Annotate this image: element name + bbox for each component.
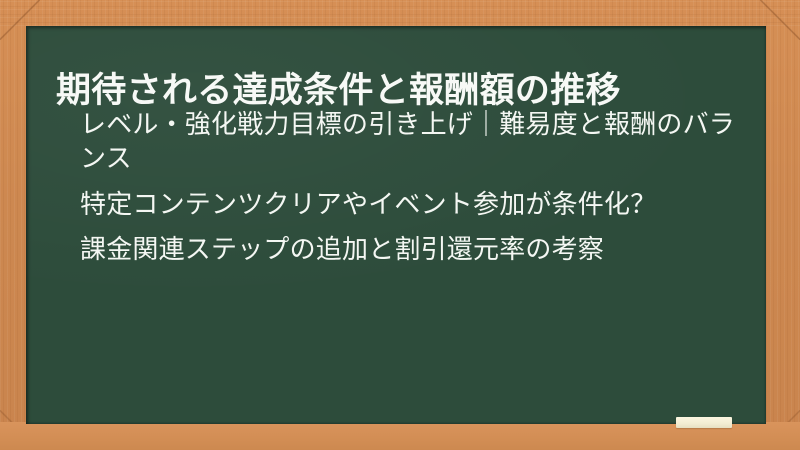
chalkboard-surface: 期待される達成条件と報酬額の推移 レベル・強化戦力目標の引き上げ｜難易度と報酬の… xyxy=(26,26,766,424)
chalk-stick-icon xyxy=(676,417,732,428)
board-bullet-list: レベル・強化戦力目標の引き上げ｜難易度と報酬のバランス 特定コンテンツクリアやイ… xyxy=(80,108,736,267)
frame-top-rail xyxy=(0,0,800,26)
chalkboard-slide: 期待される達成条件と報酬額の推移 レベル・強化戦力目標の引き上げ｜難易度と報酬の… xyxy=(0,0,800,450)
list-item: レベル・強化戦力目標の引き上げ｜難易度と報酬のバランス xyxy=(80,108,736,176)
list-item: 課金関連ステップの追加と割引還元率の考察 xyxy=(80,233,736,267)
page-title: 期待される達成条件と報酬額の推移 xyxy=(56,69,746,113)
list-item: 特定コンテンツクリアやイベント参加が条件化？ xyxy=(80,188,736,222)
